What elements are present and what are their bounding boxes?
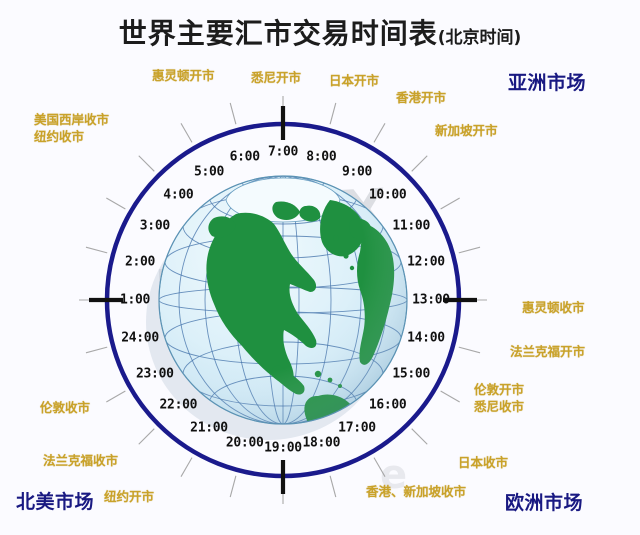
hour-tick-400 (139, 156, 155, 172)
hour-tick-1800 (330, 476, 336, 497)
hour-label-1700: 17:00 (338, 421, 376, 436)
hour-label-2200: 22:00 (160, 397, 198, 412)
event-label-hk-sg-close: 香港、新加坡收市 (366, 484, 466, 499)
hour-label-1600: 16:00 (369, 397, 407, 412)
hour-label-1100: 11:00 (392, 219, 430, 234)
event-label-singapore-open: 新加坡开市 (435, 123, 498, 138)
hour-label-1300: 13:00 (412, 293, 450, 308)
hour-label-900: 9:00 (342, 164, 372, 179)
hour-label-2000: 20:00 (226, 435, 264, 450)
asia-market: 亚洲市场 (508, 68, 586, 95)
hour-label-1000: 10:00 (369, 188, 407, 203)
hour-label-1200: 12:00 (407, 254, 445, 269)
hour-tick-200 (86, 247, 107, 253)
hour-tick-500 (181, 123, 192, 142)
hour-label-600: 6:00 (230, 150, 260, 165)
event-label-japan-close: 日本收市 (458, 455, 508, 470)
hour-tick-2100 (181, 458, 192, 477)
hour-tick-2200 (139, 429, 155, 445)
hour-tick-2000 (230, 476, 236, 497)
hour-label-1500: 15:00 (392, 367, 430, 382)
hour-label-400: 4:00 (163, 188, 193, 203)
hour-tick-1600 (412, 429, 428, 445)
hour-label-500: 5:00 (194, 164, 224, 179)
hour-tick-1000 (412, 156, 428, 172)
hour-label-1900: 19:00 (264, 441, 302, 456)
hour-label-1800: 18:00 (302, 435, 340, 450)
event-label-london-close: 伦敦收市 (40, 400, 90, 415)
event-label-newyork-close: 纽约收市 (34, 129, 84, 144)
event-label-wellington-open: 惠灵顿开市 (152, 68, 215, 83)
north-america-market: 北美市场 (16, 487, 94, 514)
hour-label-2400: 24:00 (121, 331, 159, 346)
hour-label-100: 1:00 (120, 293, 150, 308)
hour-label-1400: 14:00 (407, 331, 445, 346)
hour-tick-1700 (374, 458, 385, 477)
europe-market: 欧洲市场 (505, 488, 583, 515)
hour-tick-300 (106, 198, 125, 209)
hour-tick-1100 (441, 198, 460, 209)
event-label-wellington-close: 惠灵顿收市 (522, 300, 585, 315)
event-label-london-open: 伦敦开市 (474, 382, 524, 397)
hour-tick-600 (230, 103, 236, 124)
hour-tick-1500 (441, 391, 460, 402)
hour-label-300: 3:00 (140, 219, 170, 234)
event-label-sydney-close: 悉尼收市 (474, 399, 524, 414)
hour-tick-2300 (106, 391, 125, 402)
event-label-sydney-open: 悉尼开市 (251, 70, 301, 85)
hour-label-2100: 21:00 (190, 421, 228, 436)
hour-tick-800 (330, 103, 336, 124)
hour-tick-2400 (86, 347, 107, 353)
event-label-frankfurt-close: 法兰克福收市 (43, 453, 118, 468)
hour-label-800: 8:00 (306, 150, 336, 165)
event-label-newyork-open: 纽约开市 (104, 489, 154, 504)
hour-label-2300: 23:00 (136, 367, 174, 382)
event-label-frankfurt-open: 法兰克福开市 (510, 344, 585, 359)
event-label-us-west-close: 美国西岸收市 (34, 112, 109, 127)
hour-tick-1200 (459, 247, 480, 253)
event-label-japan-open: 日本开市 (329, 73, 379, 88)
hour-label-700: 7:00 (268, 145, 298, 160)
hour-label-200: 2:00 (125, 254, 155, 269)
hour-tick-900 (374, 123, 385, 142)
hour-tick-1400 (459, 347, 480, 353)
infographic-root: 世界主要汇市交易时间表(北京时间) FX FX e (0, 0, 640, 535)
event-label-hongkong-open: 香港开市 (396, 90, 446, 105)
